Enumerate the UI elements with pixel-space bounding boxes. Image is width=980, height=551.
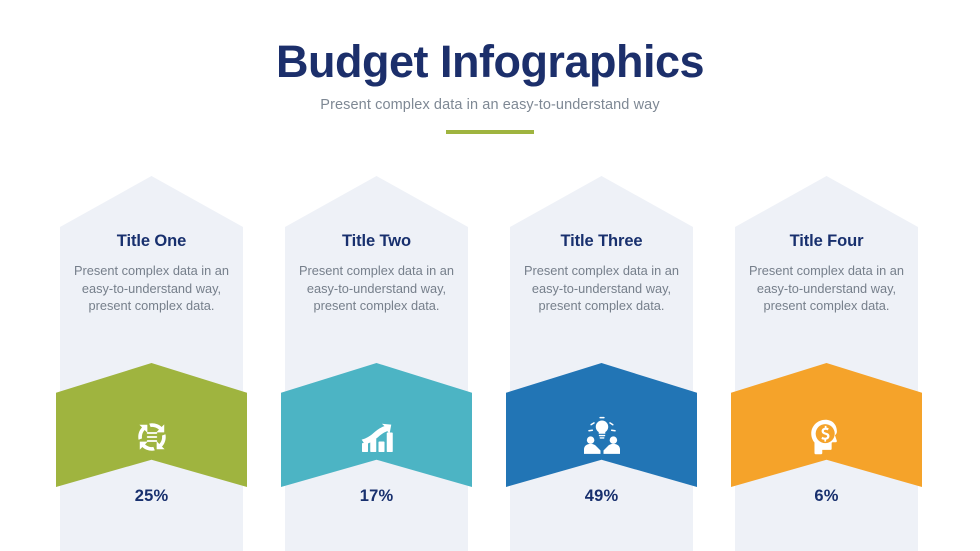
page-title: Budget Infographics [0,0,980,85]
card-title-2: Title Two [285,232,468,251]
slide-header: Budget Infographics Present complex data… [0,0,980,134]
card-text-block-2: Title Two Present complex data in an eas… [285,232,468,315]
percentage-value-1: 25% [60,487,243,506]
infographic-column-2[interactable]: Title Two Present complex data in an eas… [263,176,489,551]
infographic-columns: Title One Present complex data in an eas… [0,176,980,551]
infographic-column-4[interactable]: Title Four Present complex data in an ea… [713,176,939,551]
card-body-4: Present complex data in an easy-to-under… [735,251,918,315]
infographic-column-3[interactable]: Title Three Present complex data in an e… [488,176,714,551]
card-title-1: Title One [60,232,243,251]
accent-divider [446,130,534,134]
card-text-block-3: Title Three Present complex data in an e… [510,232,693,315]
head-dollar-icon [803,413,851,461]
growth-chart-icon [353,413,401,461]
recycle-document-icon [128,413,176,461]
card-body-1: Present complex data in an easy-to-under… [60,251,243,315]
card-title-4: Title Four [735,232,918,251]
page-subtitle: Present complex data in an easy-to-under… [0,85,980,113]
percentage-value-2: 17% [285,487,468,506]
team-idea-lightbulb-icon [578,413,626,461]
infographic-slide: Budget Infographics Present complex data… [0,0,980,551]
card-body-3: Present complex data in an easy-to-under… [510,251,693,315]
card-body-2: Present complex data in an easy-to-under… [285,251,468,315]
percentage-value-3: 49% [510,487,693,506]
card-title-3: Title Three [510,232,693,251]
percentage-value-4: 6% [735,487,918,506]
card-text-block-1: Title One Present complex data in an eas… [60,232,243,315]
infographic-column-1[interactable]: Title One Present complex data in an eas… [38,176,264,551]
card-text-block-4: Title Four Present complex data in an ea… [735,232,918,315]
